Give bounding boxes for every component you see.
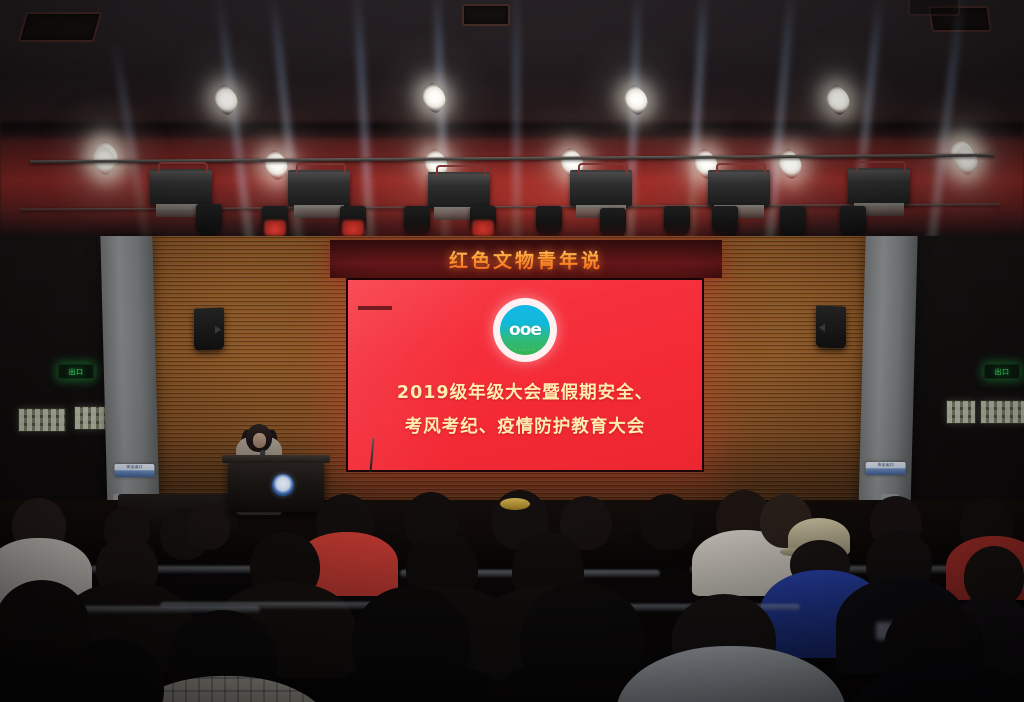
stage-light-fixture [428,172,490,208]
par-can-light [196,204,222,234]
par-can-light [664,206,690,236]
podium-top [222,455,330,463]
auditorium-photo: 出口 出口 安全出口 安全出口 红色文物青年说 oo [0,0,1024,702]
par-can-light [712,206,738,236]
slide-title-line-1: 2019级年级大会暨假期安全、 [348,376,702,410]
par-can-light [470,206,496,236]
exit-sign-right-label: 出口 [995,367,1010,377]
screen-artifact [358,306,392,310]
par-can-light [404,206,430,236]
hair-clip [500,498,530,510]
exit-sign-right: 出口 [984,364,1020,379]
par-can-light [840,206,866,236]
logo-letters: ooe [509,320,541,340]
par-can-light [340,206,366,236]
wall-grille [18,408,66,432]
audience-head [640,494,694,550]
ceiling-beam-line [0,122,1024,138]
pillar-sign-left-label: 安全出口 [126,464,142,469]
stage-light-fixture [150,169,212,205]
exit-sign-left: 出口 [58,364,94,379]
stage-light-fixture [848,168,910,204]
wall-grille [946,400,976,424]
slide-title-line-2: 考风考纪、疫情防护教育大会 [348,410,702,444]
par-can-light [262,206,288,236]
slide-title-block: 2019级年级大会暨假期安全、 考风考纪、疫情防护教育大会 [348,376,702,444]
led-screen-frame: ooe · · · · · 2019级年级大会暨假期安全、 考风考纪、疫情防护教… [346,278,704,472]
stage-banner-text: 红色文物青年说 [449,246,603,273]
presenter-face [253,433,266,448]
wall-speaker-right [816,305,846,348]
stage-light-fixture [708,170,770,206]
stage-light-fixture [570,170,632,206]
audience-head [186,504,230,550]
par-can-light [600,208,626,238]
led-screen: ooe · · · · · 2019级年级大会暨假期安全、 考风考纪、疫情防护教… [348,280,702,470]
par-can-light [536,206,562,236]
wall-grille [980,400,1024,424]
wall-speaker-left [194,307,224,350]
logo-disc: ooe · · · · · [500,305,550,355]
ceiling-vent [908,0,960,16]
exit-sign-left-label: 出口 [69,367,84,377]
stage-light-fixture [288,170,350,206]
stage-banner: 红色文物青年说 [330,240,722,278]
ceiling-vent [462,4,510,26]
wall-grille [74,406,106,430]
pillar-sign-right-label: 安全出口 [878,462,894,467]
audience [0,470,1024,702]
ceiling-vent [18,12,103,42]
logo-arc-text: · · · · · [500,347,550,352]
institution-logo: ooe · · · · · [493,298,557,362]
par-can-light [780,206,806,236]
